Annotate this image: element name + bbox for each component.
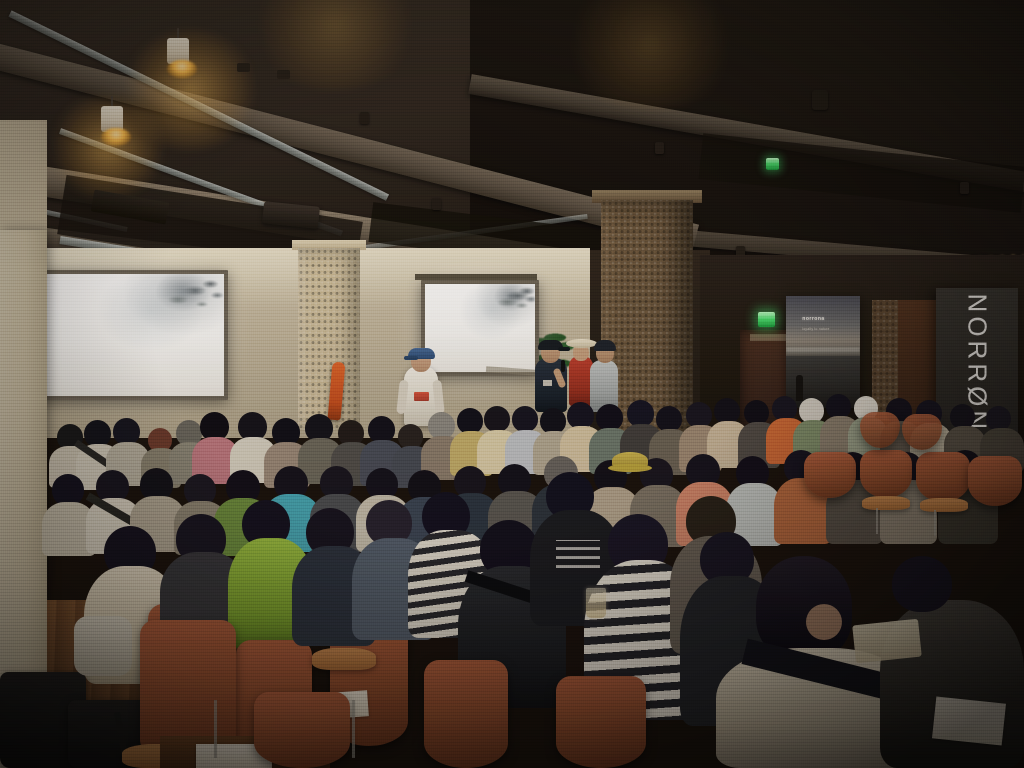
presenter-right-hair: [594, 340, 616, 351]
bucket-hat-brim: [608, 464, 652, 472]
pendant-lamp-1: [167, 28, 189, 78]
left-column-upper: [0, 120, 47, 235]
chair-leg: [352, 700, 355, 758]
audience-head: [567, 402, 594, 429]
pendant-lamp-2: [101, 96, 123, 146]
left-projection-screen: [36, 270, 228, 400]
chair-leg: [934, 510, 936, 536]
coat-on-chair: [74, 616, 132, 676]
tshirt-print: [556, 540, 600, 568]
audience-head: [892, 556, 952, 612]
audience-head: [368, 416, 395, 443]
track-spot-1: [237, 63, 250, 72]
chair-back[interactable]: [424, 660, 508, 768]
track-spot-2: [277, 70, 290, 79]
chair-leg: [876, 508, 878, 534]
track-spot-5: [655, 142, 664, 154]
chair-back[interactable]: [804, 452, 856, 498]
audience-head: [627, 400, 654, 427]
chair-seat[interactable]: [862, 496, 910, 510]
program-paper[interactable]: [932, 696, 1006, 745]
audience-head: [512, 406, 538, 432]
audience-head: [484, 406, 510, 432]
event-photo-scene: EXIT norrona loyalty to nature NORRØNA: [0, 0, 1024, 768]
presenter-mic-badge: [543, 380, 552, 386]
program-booklet[interactable]: [852, 619, 922, 664]
right-projection-screen: [421, 280, 539, 376]
presenter-main-cap-brim: [404, 356, 418, 360]
audience-head: [84, 420, 111, 447]
chair-back[interactable]: [916, 452, 970, 502]
exit-sign-door: [758, 312, 775, 327]
presenter-mic-cap-brim: [558, 347, 570, 351]
screen-roller-casing: [415, 274, 537, 280]
chair-seat[interactable]: [312, 648, 376, 670]
track-spot-6: [812, 90, 828, 110]
microphone: [561, 360, 565, 372]
banner-logo-text: norrona: [802, 316, 824, 322]
audience-head: [596, 404, 623, 431]
chair-back[interactable]: [860, 450, 912, 498]
banner-tagline-text: loyalty to nature: [802, 327, 829, 331]
chair-back[interactable]: [254, 692, 350, 768]
chair-back[interactable]: [556, 676, 646, 768]
chair-leg: [214, 700, 217, 758]
drink-glass[interactable]: [586, 588, 606, 618]
rollup-banner-photo: norrona loyalty to nature: [786, 296, 860, 408]
audience-head: [113, 418, 140, 445]
audience-head-grey: [428, 412, 455, 439]
chair-seat[interactable]: [920, 498, 968, 512]
presenter-main-shirt-graphic: [414, 392, 429, 401]
audience-ear: [806, 604, 842, 640]
presenter-sun-hat: [566, 339, 597, 348]
exit-sign-ceiling: EXIT: [766, 158, 779, 170]
track-spot-3: [360, 112, 369, 124]
track-spot-8: [960, 182, 969, 194]
chair-back[interactable]: [968, 456, 1022, 506]
track-spot-4: [432, 198, 441, 210]
door-sign-plate: [750, 334, 790, 341]
